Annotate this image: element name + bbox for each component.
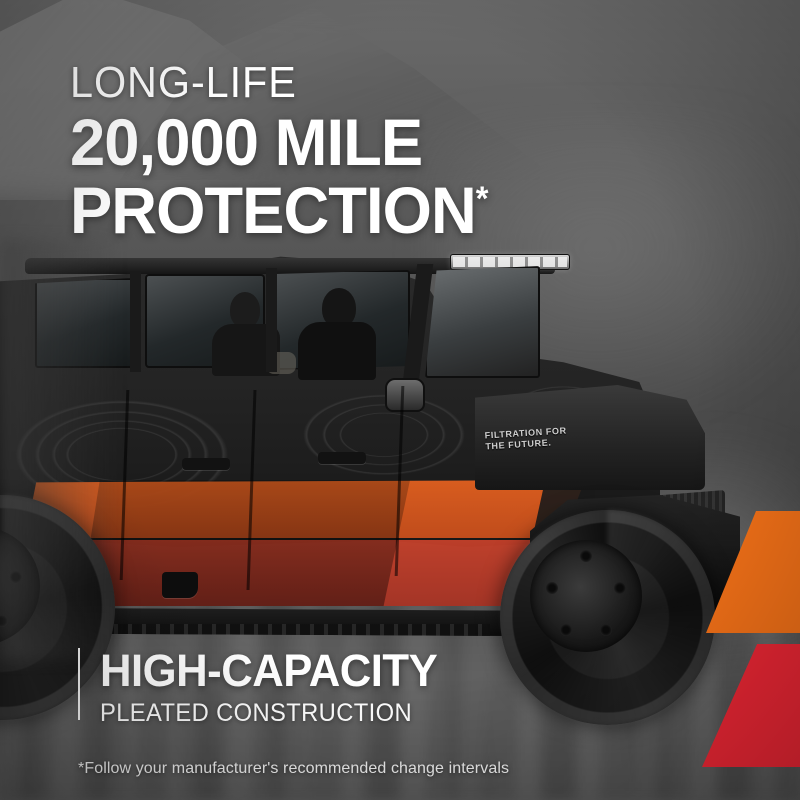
- side-mirror: [385, 378, 425, 412]
- footnote-text: *Follow your manufacturer's recommended …: [78, 760, 509, 778]
- headline-line-2: PROTECTION*: [70, 176, 488, 244]
- lug-nut: [614, 582, 626, 594]
- body-stripe-shadow: [80, 480, 410, 606]
- front-wheel: [500, 510, 715, 725]
- front-wheel-hub: [530, 540, 642, 652]
- subhead-title: HIGH-CAPACITY: [100, 646, 437, 696]
- door-handle-rear: [182, 458, 230, 470]
- lug-nut: [600, 624, 612, 636]
- vehicle-photo: FILTRATION FOR THE FUTURE.: [0, 240, 800, 660]
- headline-asterisk: *: [476, 180, 488, 218]
- rock-slider: [60, 608, 530, 636]
- windshield: [425, 266, 540, 378]
- c-pillar: [130, 272, 141, 372]
- lug-nut: [580, 550, 592, 562]
- subhead-vertical-rule: [78, 648, 80, 720]
- passenger-head: [230, 292, 260, 328]
- subhead-block: HIGH-CAPACITY PLEATED CONSTRUCTION: [78, 646, 448, 728]
- headline-line-2-text: PROTECTION: [70, 173, 476, 247]
- left-edge-motion-blur: [0, 240, 120, 660]
- headline-block: LONG-LIFE 20,000 MILE PROTECTION*: [70, 58, 505, 244]
- fuel-door: [162, 572, 198, 598]
- door-handle-front: [318, 452, 366, 464]
- driver-body: [298, 322, 376, 380]
- headline-eyebrow: LONG-LIFE: [70, 58, 479, 108]
- b-pillar: [266, 268, 277, 372]
- lug-nut: [560, 624, 572, 636]
- headline-line-1: 20,000 MILE: [70, 108, 488, 176]
- subhead-caption: PLEATED CONSTRUCTION: [100, 698, 430, 728]
- promo-banner: FILTRATION FOR THE FUTURE.: [0, 0, 800, 800]
- lug-nut: [546, 582, 558, 594]
